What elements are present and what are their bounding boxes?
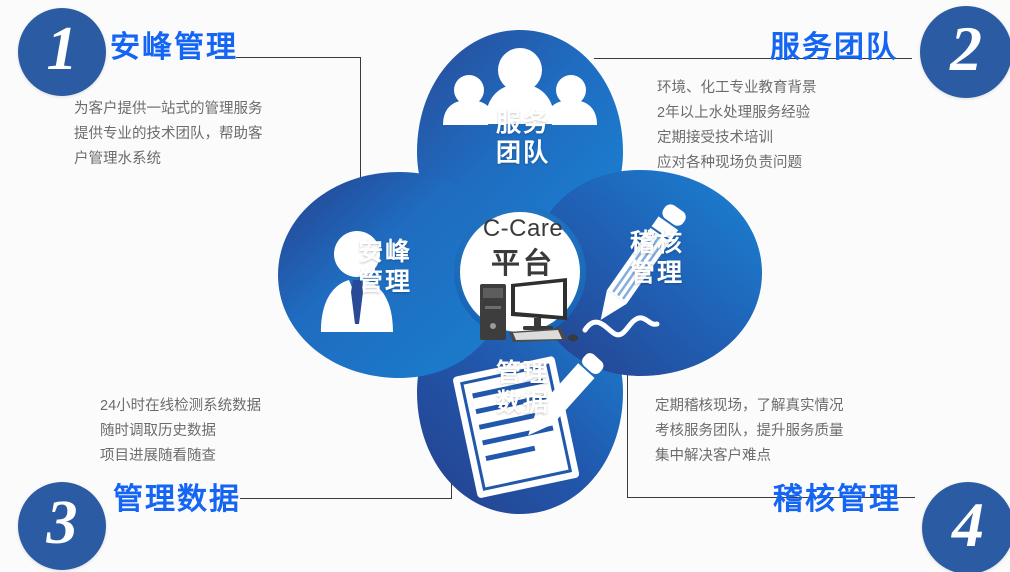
quadrant-body-1: 为客户提供一站式的管理服务 提供专业的技术团队，帮助客 户管理水系统 [74,97,263,172]
quadrant-1-line-2: 提供专业的技术团队，帮助客 [74,122,263,147]
number-badge-2: 2 [920,6,1010,98]
number-badge-3: 3 [18,482,106,570]
petal-label-bottom: 管理 数据 [478,358,568,418]
quadrant-1-line-3: 户管理水系统 [74,147,263,172]
quadrant-body-3: 24小时在线检测系统数据 随时调取历史数据 项目进展随看随查 [100,394,261,469]
quadrant-2-line-4: 应对各种现场负责问题 [657,151,817,176]
number-badge-4: 4 [922,482,1010,572]
quadrant-3-line-1: 24小时在线检测系统数据 [100,394,261,419]
quadrant-body-4: 定期稽核现场，了解真实情况 考核服务团队，提升服务质量 集中解决客户难点 [655,394,844,469]
quadrant-4-line-1: 定期稽核现场，了解真实情况 [655,394,844,419]
quadrant-3-line-3: 项目进展随看随查 [100,444,261,469]
quadrant-title-3: 管理数据 [113,474,241,518]
number-badge-1: 1 [18,8,106,96]
quadrant-3-line-2: 随时调取历史数据 [100,419,261,444]
quadrant-1-line-1: 为客户提供一站式的管理服务 [74,97,263,122]
quadrant-4-line-2: 考核服务团队，提升服务质量 [655,419,844,444]
petal-label-top: 服务 团队 [478,108,568,168]
quadrant-2-line-1: 环境、化工专业教育背景 [657,76,817,101]
quadrant-title-4: 稽核管理 [773,474,901,518]
quadrant-2-line-2: 2年以上水处理服务经验 [657,101,817,126]
quadrant-body-2: 环境、化工专业教育背景 2年以上水处理服务经验 定期接受技术培训 应对各种现场负… [657,76,817,176]
quadrant-2-line-3: 定期接受技术培训 [657,126,817,151]
petal-label-right: 稽核 管理 [617,228,697,288]
petal-label-left: 安峰 管理 [345,237,425,297]
infographic-canvas: 服务 团队 稽核 管理 管理 数据 安峰 管理 C-Care 平台 1 2 3 … [0,0,1010,572]
quadrant-title-2: 服务团队 [770,22,898,66]
quadrant-title-1: 安峰管理 [110,22,238,66]
quadrant-4-line-3: 集中解决客户难点 [655,444,844,469]
